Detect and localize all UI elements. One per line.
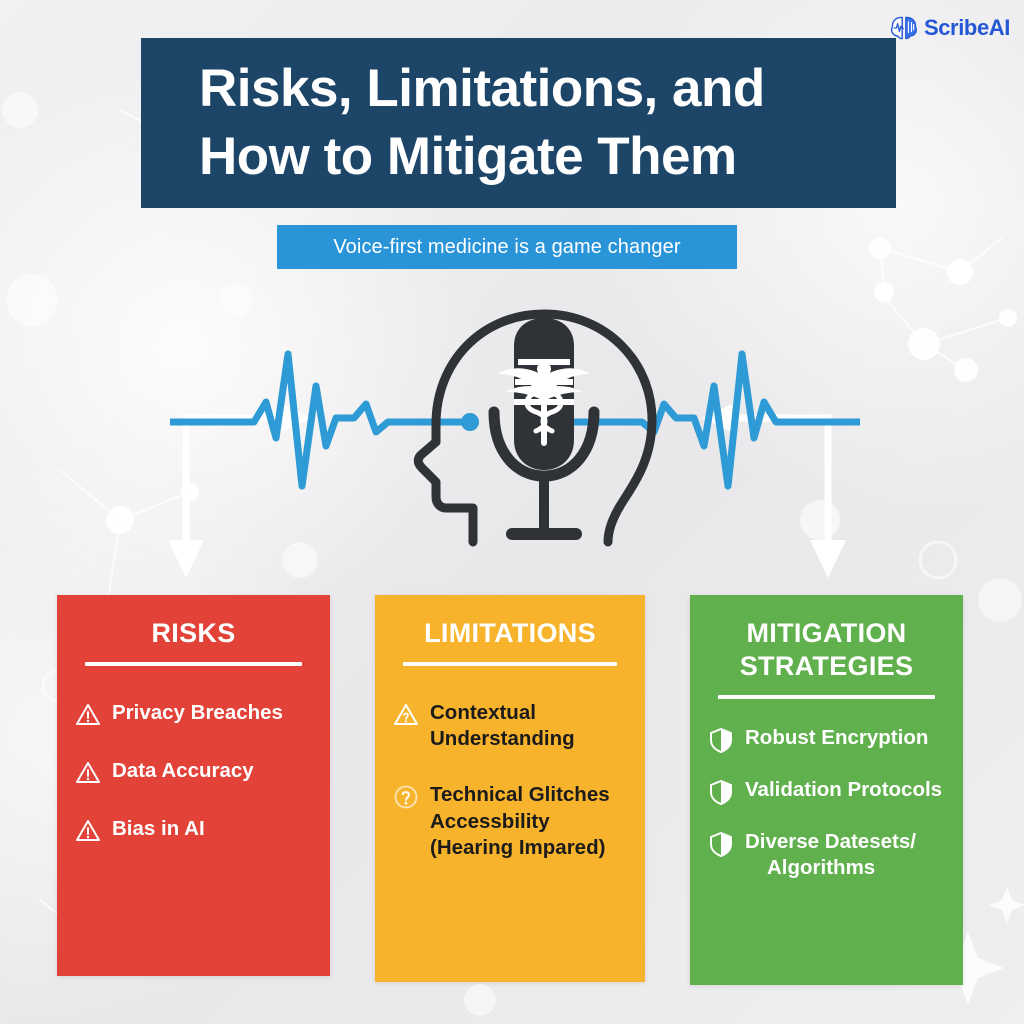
brain-waveform-icon	[889, 14, 919, 42]
shield-icon	[708, 779, 734, 805]
list-item-label: Validation Protocols	[745, 777, 942, 803]
warning-question-triangle-icon	[393, 702, 419, 728]
list-item-line: Technical Glitches	[430, 783, 610, 806]
card-mitigation-title: MITIGATION STRATEGIES	[708, 617, 945, 683]
waveform-left-dot	[461, 413, 479, 431]
warning-triangle-icon	[75, 818, 101, 844]
list-item-line: Robust Encryption	[745, 726, 928, 749]
list-item-line: Understanding	[430, 727, 575, 750]
list-item-label: Data Accuracy	[112, 758, 254, 784]
card-mitigation-strategies: MITIGATION STRATEGIES Robust Encryption	[690, 595, 963, 985]
list-item-label: Privacy Breaches	[112, 700, 283, 726]
page-title-line-2: How to Mitigate Them	[199, 123, 838, 191]
card-mitigation-items: Robust Encryption Validation Protocols	[708, 725, 945, 905]
card-risks-items: Privacy Breaches Data Accuracy Bias in A…	[75, 700, 312, 874]
head-microphone-caduceus-icon	[170, 300, 860, 570]
list-item-line: Accessbility	[430, 810, 550, 833]
warning-triangle-icon	[75, 702, 101, 728]
card-limitations-title: LIMITATIONS	[393, 617, 627, 650]
list-item-line: Diverse Datesets/	[745, 830, 916, 853]
list-item-line: Contextual	[430, 701, 536, 724]
list-item: Bias in AI	[75, 816, 312, 844]
waveform-right	[560, 354, 860, 486]
list-item-line: Validation Protocols	[745, 778, 942, 801]
infographic-canvas: ScribeAI Risks, Limitations, and How to …	[0, 0, 1024, 1024]
list-item: Data Accuracy	[75, 758, 312, 786]
caduceus-icon	[498, 362, 590, 446]
list-item: Privacy Breaches	[75, 700, 312, 728]
list-item: Diverse Datesets/ Algorithms	[708, 829, 945, 881]
title-banner: Risks, Limitations, and How to Mitigate …	[141, 38, 896, 208]
list-item: Technical Glitches Accessbility (Hearing…	[393, 782, 627, 861]
list-item: Robust Encryption	[708, 725, 945, 753]
question-mark-icon	[393, 784, 419, 810]
list-item-label: Technical Glitches Accessbility (Hearing…	[430, 782, 610, 861]
list-item-label: Robust Encryption	[745, 725, 928, 751]
card-risks-title: RISKS	[75, 617, 312, 650]
shield-icon	[708, 831, 734, 857]
subtitle-text: Voice-first medicine is a game changer	[333, 236, 680, 259]
list-item: Validation Protocols	[708, 777, 945, 805]
list-item-label: Contextual Understanding	[430, 700, 575, 752]
list-item-label: Diverse Datesets/ Algorithms	[745, 829, 916, 881]
scribeai-logo[interactable]: ScribeAI	[889, 14, 1010, 42]
warning-triangle-icon	[75, 760, 101, 786]
page-title-line-1: Risks, Limitations, and	[199, 55, 838, 123]
list-item: Contextual Understanding	[393, 700, 627, 752]
shield-icon	[708, 727, 734, 753]
card-risks-divider	[85, 662, 302, 666]
logo-wordmark: ScribeAI	[924, 15, 1010, 41]
card-mitigation-divider	[718, 695, 935, 699]
list-item-line: (Hearing Impared)	[430, 836, 605, 859]
list-item-line: Algorithms	[745, 855, 875, 881]
card-limitations: LIMITATIONS Contextual Understanding	[375, 595, 645, 982]
card-risks: RISKS Privacy Breaches Data Accuracy	[57, 595, 330, 976]
card-limitations-items: Contextual Understanding Technical Glitc…	[393, 700, 627, 891]
list-item-label: Bias in AI	[112, 816, 205, 842]
card-limitations-divider	[403, 662, 617, 666]
subtitle-banner: Voice-first medicine is a game changer	[277, 225, 737, 269]
